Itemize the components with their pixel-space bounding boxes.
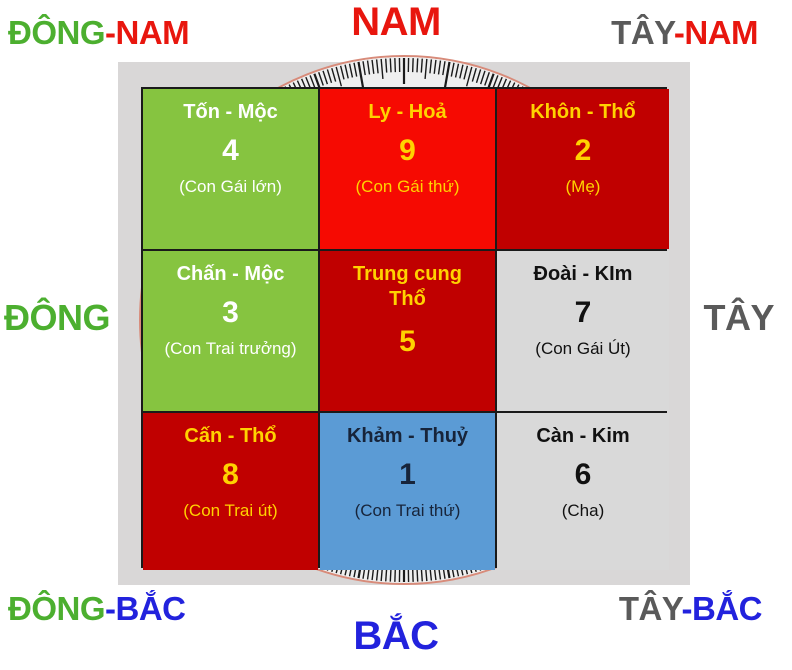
bagua-cell-title: Tốn - Mộc — [183, 101, 277, 124]
direction-label-tay: TÂY — [704, 300, 775, 336]
tay-nam-part2: NAM — [684, 14, 758, 51]
bagua-cell-number: 7 — [575, 296, 592, 329]
direction-label-tay-nam: TÂY-NAM — [611, 16, 758, 49]
bagua-cell-title: Trung cung — [353, 263, 462, 286]
bagua-cell-title: Đoài - KIm — [534, 263, 633, 286]
bagua-cell-5: Trung cungThổ5 — [320, 251, 495, 411]
dong-nam-dash: - — [105, 14, 116, 51]
bagua-cell-number: 1 — [399, 458, 416, 491]
tay-nam-part1: TÂY — [611, 14, 674, 51]
bagua-cell-subtitle: (Con Trai trưởng) — [164, 339, 296, 359]
bagua-cell-number: 8 — [222, 458, 239, 491]
bagua-cell-number: 9 — [399, 134, 416, 167]
bagua-cell-3: Chấn - Mộc3(Con Trai trưởng) — [143, 251, 318, 411]
direction-bac-text: BẮC — [353, 614, 438, 658]
direction-label-bac: BẮC — [0, 616, 792, 656]
bagua-cell-title: Khảm - Thuỷ — [347, 425, 468, 448]
bagua-cell-subtitle: (Con Trai út) — [183, 501, 277, 521]
bagua-cell-subtitle: (Con Gái lớn) — [179, 177, 282, 197]
bagua-cell-title: Cấn - Thổ — [184, 425, 276, 448]
bagua-cell-subtitle: (Con Gái thứ) — [356, 177, 460, 197]
bagua-cell-subtitle: (Mẹ) — [566, 177, 601, 197]
bagua-cell-2: Khôn - Thổ2(Mẹ) — [497, 89, 669, 249]
bagua-cell-title: Càn - Kim — [536, 425, 629, 448]
direction-nam-text: NAM — [351, 0, 441, 44]
bagua-cell-7: Đoài - KIm7(Con Gái Út) — [497, 251, 669, 411]
bagua-cell-title: Ly - Hoả — [368, 101, 446, 124]
bagua-cell-number: 4 — [222, 134, 239, 167]
direction-dong-text: ĐÔNG — [4, 297, 110, 338]
direction-label-dong-nam: ĐÔNG-NAM — [8, 16, 189, 49]
bagua-cell-subtitle: (Con Trai thứ) — [355, 501, 461, 521]
bagua-cell-subtitle: (Con Gái Út) — [535, 339, 630, 359]
bagua-cell-title: Chấn - Mộc — [177, 263, 285, 286]
bagua-cell-title: Khôn - Thổ — [530, 101, 636, 124]
bagua-cell-9: Ly - Hoả9(Con Gái thứ) — [320, 89, 495, 249]
bagua-cell-1: Khảm - Thuỷ1(Con Trai thứ) — [320, 413, 495, 570]
bagua-grid: Tốn - Mộc4(Con Gái lớn)Ly - Hoả9(Con Gái… — [141, 87, 667, 568]
dong-nam-part1: ĐÔNG — [8, 14, 105, 51]
bagua-cell-number: 6 — [575, 458, 592, 491]
bagua-cell-title-line2: Thổ — [389, 288, 426, 311]
bagua-cell-6: Càn - Kim6(Cha) — [497, 413, 669, 570]
direction-label-dong: ĐÔNG — [4, 300, 110, 336]
tay-nam-dash: - — [674, 14, 685, 51]
bagua-cell-subtitle: (Cha) — [562, 501, 605, 521]
bagua-cell-number: 2 — [575, 134, 592, 167]
bagua-cell-4: Tốn - Mộc4(Con Gái lớn) — [143, 89, 318, 249]
direction-tay-text: TÂY — [704, 297, 775, 338]
dong-nam-part2: NAM — [116, 14, 190, 51]
bagua-cell-8: Cấn - Thổ8(Con Trai út) — [143, 413, 318, 570]
bagua-cell-number: 3 — [222, 296, 239, 329]
bagua-cell-number: 5 — [399, 325, 416, 358]
